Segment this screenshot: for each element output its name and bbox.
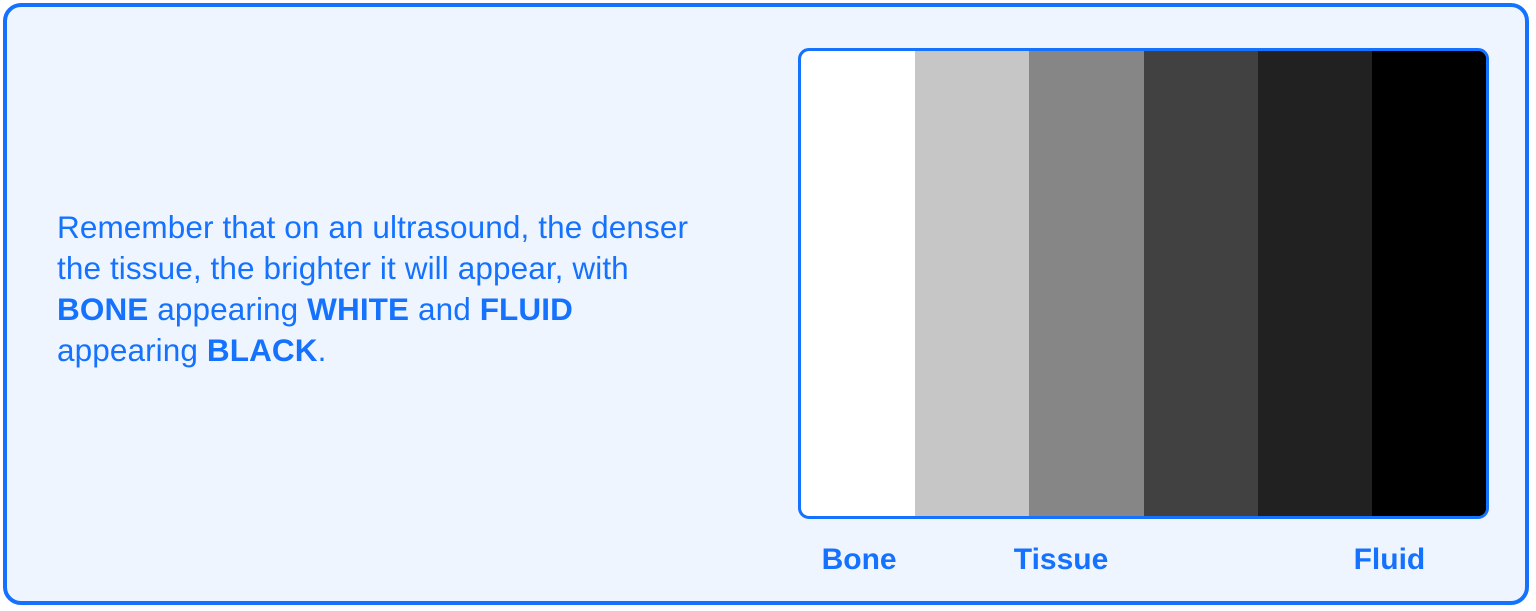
text-run: and — [409, 291, 480, 327]
grayscale-band — [1144, 51, 1258, 516]
scale-label-tissue: Tissue — [1014, 535, 1109, 585]
emphasis-term: WHITE — [307, 291, 409, 327]
text-run: appearing — [148, 291, 307, 327]
scale-label-fluid: Fluid — [1354, 535, 1426, 585]
echogenicity-scale-panel — [798, 48, 1489, 519]
emphasis-term: BLACK — [207, 332, 318, 368]
info-card: Remember that on an ultrasound, the dens… — [3, 3, 1529, 605]
grayscale-band — [915, 51, 1029, 516]
grayscale-band — [1258, 51, 1372, 516]
grayscale-band — [1029, 51, 1143, 516]
emphasis-term: BONE — [57, 291, 148, 327]
grayscale-band — [801, 51, 915, 516]
explanatory-text: Remember that on an ultrasound, the dens… — [57, 207, 707, 371]
text-run: appearing — [57, 332, 207, 368]
scale-label-row: BoneTissueFluid — [800, 535, 1487, 585]
text-run: Remember that on an ultrasound, the dens… — [57, 209, 688, 286]
text-run: . — [318, 332, 327, 368]
scale-label-bone: Bone — [822, 535, 897, 585]
grayscale-band — [1372, 51, 1486, 516]
emphasis-term: FLUID — [480, 291, 573, 327]
